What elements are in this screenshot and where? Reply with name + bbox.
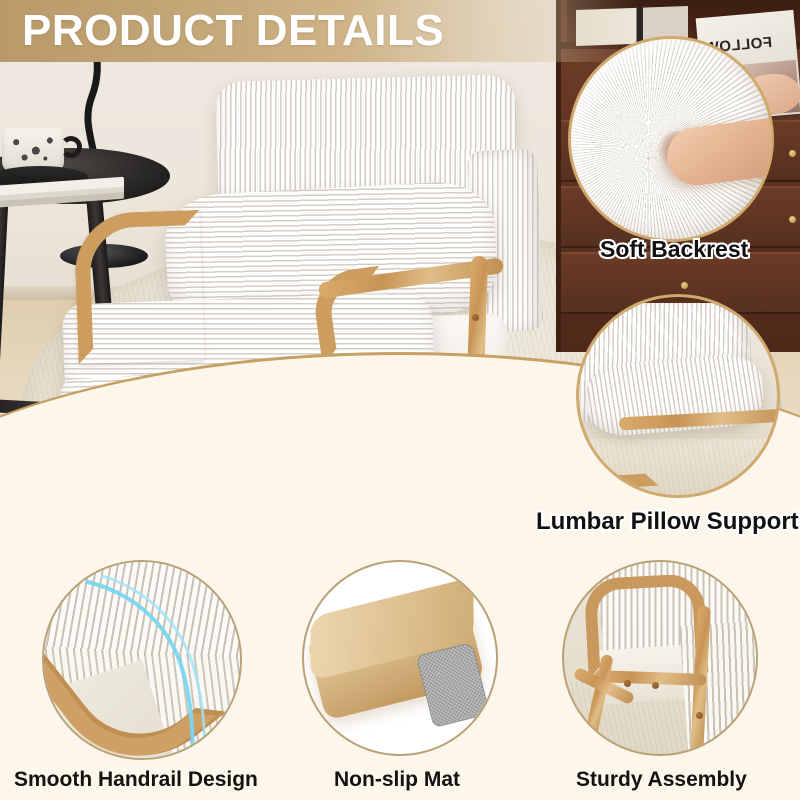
- label-sturdy-assembly: Sturdy Assembly: [576, 768, 747, 792]
- wood-dowel: [624, 680, 631, 687]
- blue-highlight-line: [68, 574, 242, 760]
- wood-armrest: [576, 380, 659, 492]
- callout-soft-backrest: [568, 36, 774, 242]
- feature-non-slip-mat: [302, 560, 498, 756]
- product-detail-page: FOLLOW: [0, 0, 800, 800]
- feature-sturdy-assembly: [562, 560, 758, 756]
- drawer-knob: [789, 216, 796, 223]
- wood-dowel: [652, 682, 659, 689]
- feature-smooth-handrail: [42, 560, 242, 760]
- drawer-knob: [681, 282, 688, 289]
- wood-dowel: [472, 314, 479, 321]
- label-non-slip-mat: Non-slip Mat: [334, 768, 460, 792]
- wood-dowel: [696, 712, 703, 719]
- chair-left-armrest: [73, 210, 204, 364]
- drawer-knob: [789, 150, 796, 157]
- label-soft-backrest: Soft Backrest: [600, 236, 748, 263]
- label-smooth-handrail-design: Smooth Handrail Design: [14, 768, 258, 792]
- label-lumbar-pillow-support: Lumbar Pillow Support: [536, 508, 799, 536]
- callout-lumbar-pillow: [576, 294, 780, 498]
- page-title: PRODUCT DETAILS: [22, 5, 444, 57]
